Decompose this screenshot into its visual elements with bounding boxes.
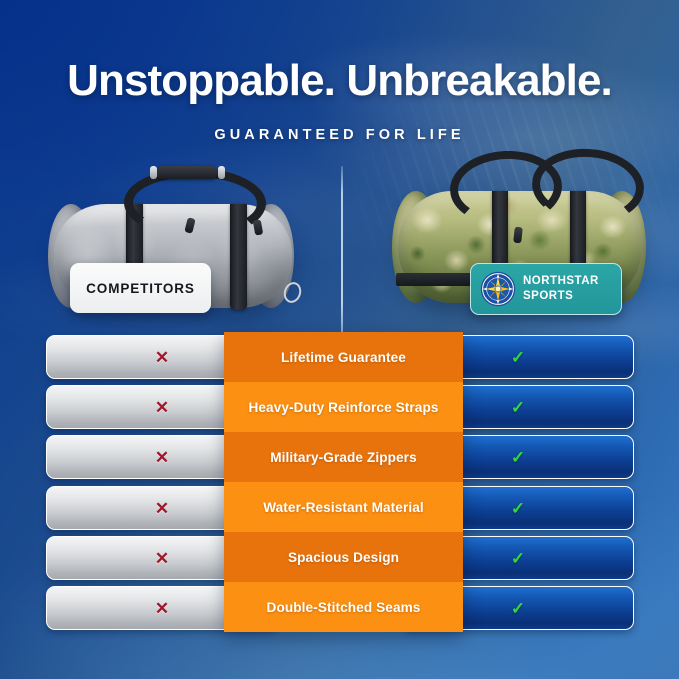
cross-icon: ✕: [155, 399, 169, 416]
check-icon: ✓: [511, 349, 525, 366]
check-icon: ✓: [511, 600, 525, 617]
feature-label: Military-Grade Zippers: [224, 432, 463, 482]
feature-column: Lifetime Guarantee Heavy-Duty Reinforce …: [224, 332, 463, 632]
check-icon: ✓: [511, 550, 525, 567]
check-icon: ✓: [511, 449, 525, 466]
feature-label: Double-Stitched Seams: [224, 582, 463, 632]
check-icon: ✓: [511, 500, 525, 517]
feature-label: Water-Resistant Material: [224, 482, 463, 532]
feature-label: Spacious Design: [224, 532, 463, 582]
cross-icon: ✕: [155, 550, 169, 567]
feature-label: Lifetime Guarantee: [224, 332, 463, 382]
feature-label: Heavy-Duty Reinforce Straps: [224, 382, 463, 432]
comparison-table: ✕ ✓ ✕ ✓ ✕ ✓ ✕ ✓ ✕ ✓: [0, 0, 679, 679]
cross-icon: ✕: [155, 600, 169, 617]
cross-icon: ✕: [155, 500, 169, 517]
comparison-infographic: Unstoppable. Unbreakable. GUARANTEED FOR…: [0, 0, 679, 679]
check-icon: ✓: [511, 399, 525, 416]
cross-icon: ✕: [155, 449, 169, 466]
cross-icon: ✕: [155, 349, 169, 366]
